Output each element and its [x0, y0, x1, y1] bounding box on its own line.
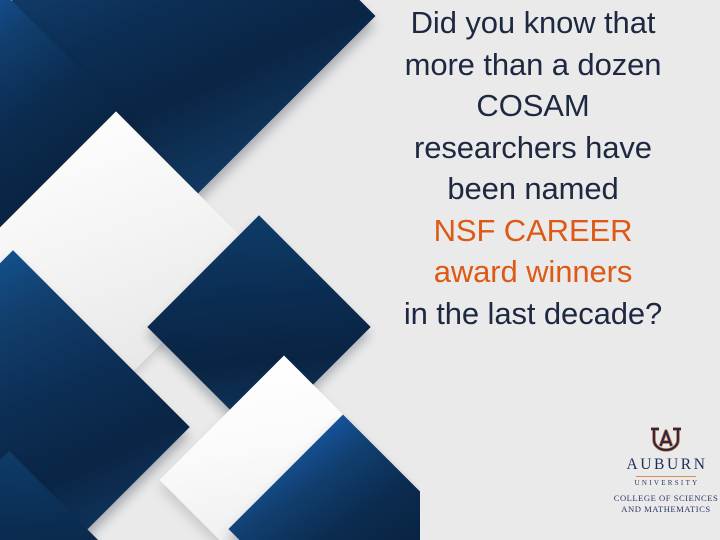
slide-canvas: Did you know that more than a dozen COSA…	[0, 0, 720, 540]
logo-divider-rule	[636, 476, 696, 477]
headline-text-block: Did you know that more than a dozen COSA…	[352, 2, 714, 334]
logo-subtitle: UNIVERSITY	[610, 479, 720, 487]
headline-line-2: more than a dozen	[352, 44, 714, 86]
headline-line-4: researchers have	[352, 127, 714, 169]
auburn-cosam-logo: AUBURN UNIVERSITY COLLEGE OF SCIENCES AN…	[608, 424, 720, 516]
headline-line-7-accent: award winners	[352, 251, 714, 293]
headline-line-3: COSAM	[352, 85, 714, 127]
logo-wordmark: AUBURN	[610, 457, 720, 473]
headline-line-5: been named	[352, 168, 714, 210]
auburn-au-monogram-icon	[649, 424, 683, 454]
headline-line-8: in the last decade?	[352, 293, 714, 335]
headline-line-6-accent: NSF CAREER	[352, 210, 714, 252]
headline-line-1: Did you know that	[352, 2, 714, 44]
logo-college-line-1: COLLEGE OF SCIENCES	[608, 493, 720, 505]
logo-college-line-2: AND MATHEMATICS	[608, 504, 720, 516]
